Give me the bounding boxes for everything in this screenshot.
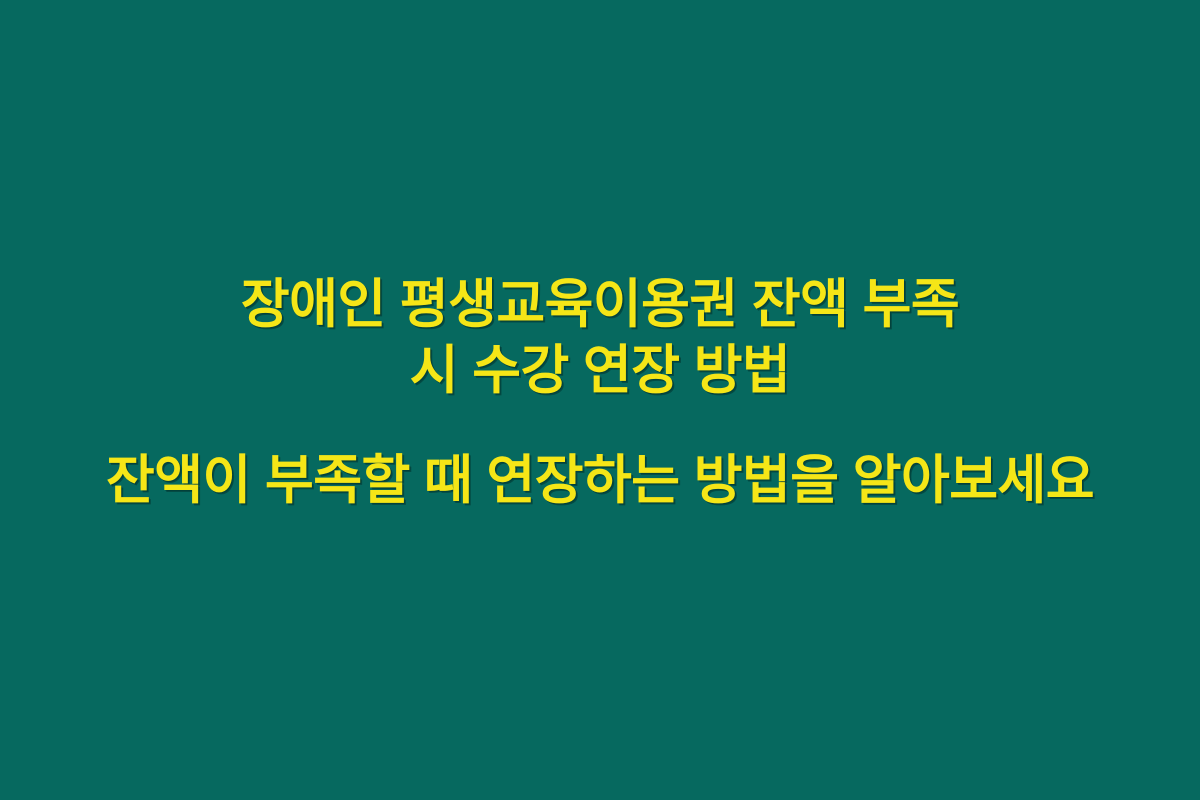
thumbnail-banner: 장애인 평생교육이용권 잔액 부족 시 수강 연장 방법 잔액이 부족할 때 연… <box>0 0 1200 800</box>
page-title: 장애인 평생교육이용권 잔액 부족 시 수강 연장 방법 <box>0 272 1200 404</box>
page-title-line-2: 시 수강 연장 방법 <box>0 338 1200 404</box>
page-subtitle: 잔액이 부족할 때 연장하는 방법을 알아보세요 <box>0 448 1200 514</box>
text-block: 장애인 평생교육이용권 잔액 부족 시 수강 연장 방법 잔액이 부족할 때 연… <box>0 237 1200 558</box>
page-title-line-1: 장애인 평생교육이용권 잔액 부족 <box>0 272 1200 338</box>
page-subtitle-line-1: 잔액이 부족할 때 연장하는 방법을 알아보세요 <box>0 448 1200 514</box>
